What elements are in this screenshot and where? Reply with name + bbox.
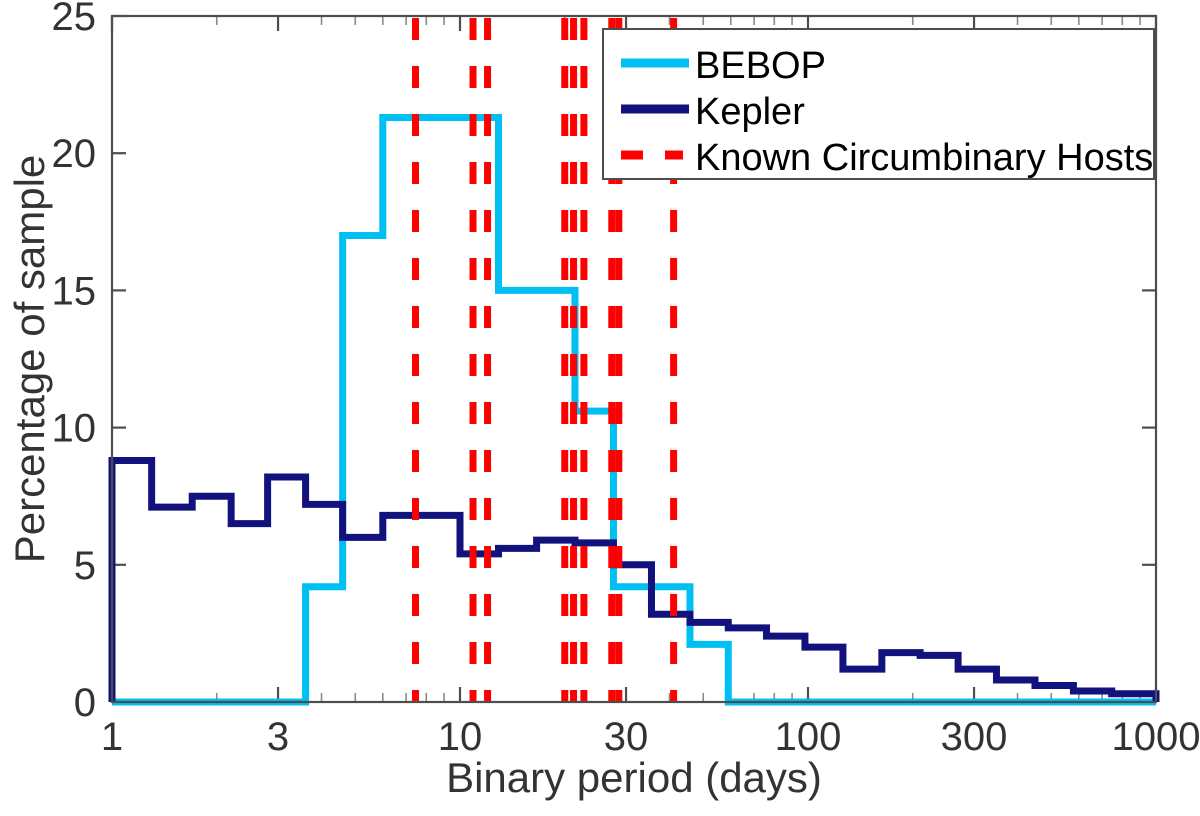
legend-label-known-circumbinary-hosts: Known Circumbinary Hosts — [695, 137, 1153, 179]
x-tick-label-300: 300 — [941, 715, 1008, 759]
y-tick-label-20: 20 — [52, 132, 97, 176]
y-tick-label-25: 25 — [52, 0, 97, 39]
x-tick-label-10: 10 — [438, 715, 483, 759]
legend-label-kepler: Kepler — [695, 91, 805, 133]
legend-label-bebop: BEBOP — [695, 45, 826, 87]
series-bebop-step-line — [112, 118, 1156, 702]
y-tick-label-0: 0 — [74, 681, 96, 725]
x-axis-label: Binary period (days) — [446, 754, 822, 801]
binary-period-histogram-chart: 1310301003001000 0510152025 Binary perio… — [0, 0, 1200, 816]
x-tick-label-1: 1 — [101, 715, 123, 759]
y-axis-tick-labels: 0510152025 — [52, 0, 97, 725]
x-tick-label-100: 100 — [775, 715, 842, 759]
histogram-series-group — [112, 118, 1156, 702]
x-tick-label-1000: 1000 — [1112, 715, 1200, 759]
y-axis-label: Percentage of sample — [6, 155, 53, 564]
x-tick-label-30: 30 — [604, 715, 649, 759]
x-tick-label-3: 3 — [267, 715, 289, 759]
y-tick-label-15: 15 — [52, 269, 97, 313]
series-kepler-step-line — [112, 461, 1156, 702]
chart-legend[interactable]: BEBOPKeplerKnown Circumbinary Hosts — [603, 29, 1154, 179]
y-tick-label-5: 5 — [74, 544, 96, 588]
y-tick-label-10: 10 — [52, 407, 97, 451]
figure-container: 1310301003001000 0510152025 Binary perio… — [0, 0, 1200, 816]
x-axis-tick-labels: 1310301003001000 — [101, 715, 1200, 759]
